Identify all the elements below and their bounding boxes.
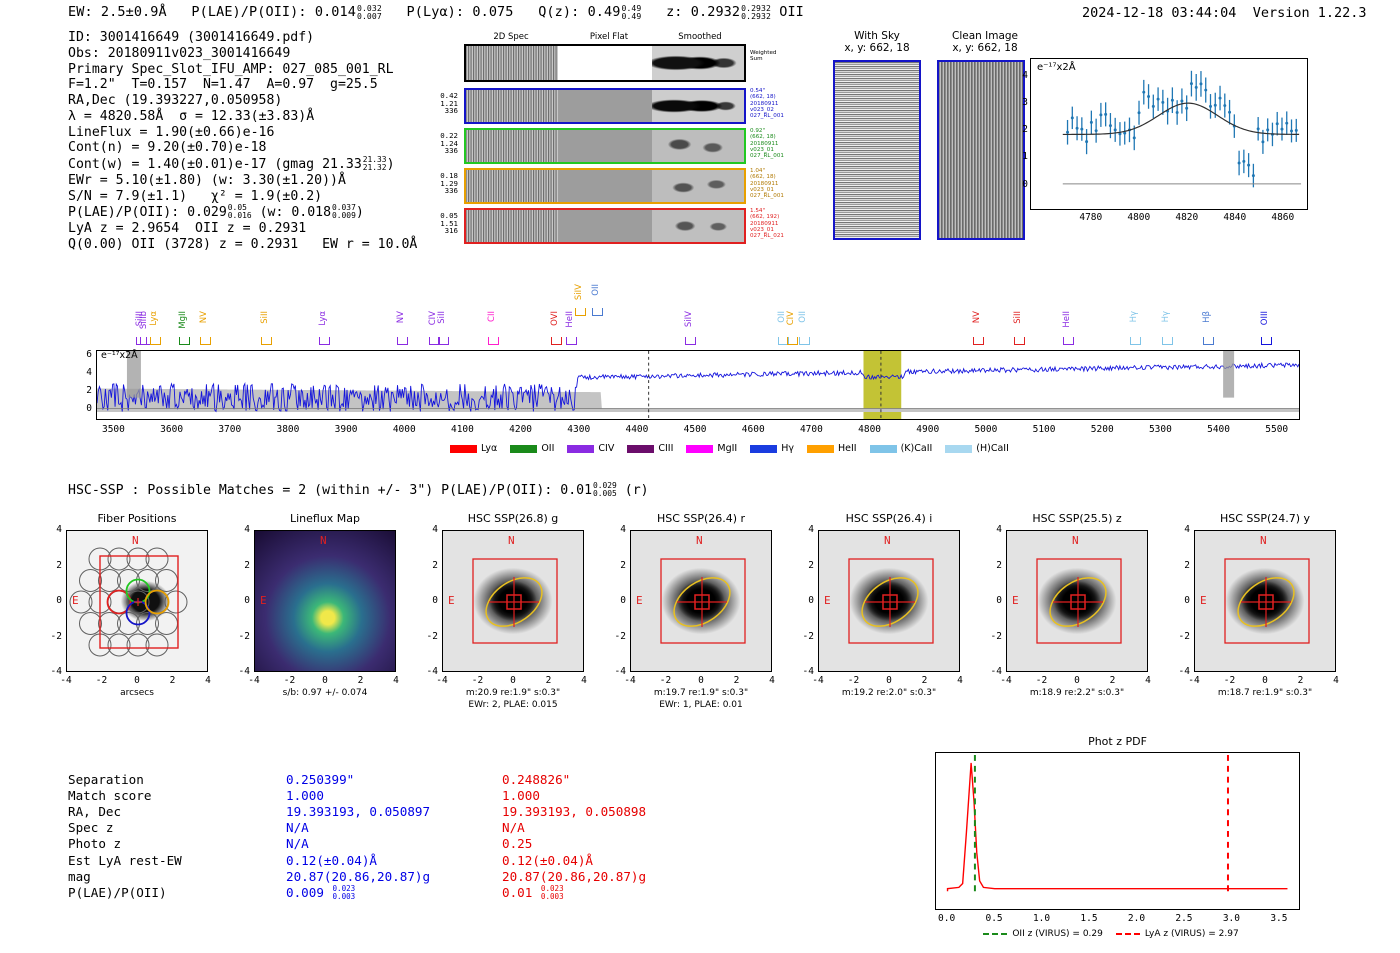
legend-swatch — [627, 445, 654, 453]
cutout-ytick: 2 — [1172, 560, 1190, 571]
match-col1-value: N/A — [286, 836, 309, 852]
montage-row-weighted-sum — [464, 44, 746, 82]
cutout-xtick: 2 — [1097, 675, 1129, 686]
match-col1-value: 0.250399" — [286, 772, 354, 788]
emission-line-label: HeII — [1062, 311, 1072, 328]
spectrum-units: e⁻¹⁷x2Å — [101, 350, 138, 361]
emission-line-bracket — [551, 337, 562, 345]
spectrum-xtick: 3900 — [324, 424, 368, 435]
spectrum-xtick: 5400 — [1197, 424, 1241, 435]
legend-swatch — [450, 445, 477, 453]
compass-east-2: E — [448, 594, 455, 607]
cutout-overlay — [819, 531, 960, 672]
emission-line-bracket — [787, 337, 798, 345]
cutout-xtick: -2 — [838, 675, 870, 686]
match-col2-value: 0.25 — [502, 836, 532, 852]
cutout-title-0: Fiber Positions — [48, 512, 226, 525]
hscssp-headline: HSC-SSP : Possible Matches = 2 (within +… — [68, 482, 649, 498]
emission-line-bracket — [1203, 337, 1214, 345]
spectrum-ytick: 2 — [74, 385, 92, 396]
cutout-ytick: 4 — [1172, 524, 1190, 535]
info-lineflux: LineFlux = 1.90(±0.66)e-16 — [68, 125, 417, 141]
cutout-title-4: HSC SSP(26.4) i — [800, 512, 978, 525]
cutout-caption1-0: arcsecs — [44, 688, 230, 699]
spectrum-xtick: 5100 — [1022, 424, 1066, 435]
compass-north-5: N — [1072, 534, 1079, 547]
montage-row-1-right-labels: 0.54" (662, 18) 20180911 v023_02 027_RL_… — [750, 88, 796, 119]
with-sky-image — [833, 60, 921, 240]
photz-svg — [936, 753, 1299, 909]
emission-line-bracket — [261, 337, 272, 345]
cutout-panel-4[interactable] — [818, 530, 960, 672]
spectrum-ytick: 6 — [74, 349, 92, 360]
photz-xtick: 1.0 — [1022, 913, 1062, 924]
cutout-caption1-3: m:19.7 re:1.9" s:0.3" — [608, 688, 794, 699]
emission-line-label: NV — [199, 311, 209, 323]
emission-line-bracket — [1014, 337, 1025, 345]
montage-row-2-right-labels: 0.92" (662, 18) 20180911 v023_01 027_RL_… — [750, 128, 796, 159]
legend-label: HeII — [838, 443, 857, 454]
info-sigma: σ = 12.33(±3.83)Å — [179, 109, 314, 124]
header-qz: Q(z): 0.49 — [538, 4, 620, 20]
emission-line-bracket — [179, 337, 190, 345]
cutout-ytick: -2 — [420, 631, 438, 642]
spectrum-xtick: 4700 — [789, 424, 833, 435]
line-profile-xtick: 4820 — [1169, 212, 1205, 223]
cutout-xtick: 0 — [685, 675, 717, 686]
cutout-xtick: 0 — [1061, 675, 1093, 686]
cutout-ytick: -2 — [608, 631, 626, 642]
spectrum-xtick: 4900 — [906, 424, 950, 435]
emission-line-bracket — [1063, 337, 1074, 345]
header-plae-value: 0.014 — [315, 4, 356, 20]
cutout-ytick: -2 — [1172, 631, 1190, 642]
line-profile-xtick: 4860 — [1265, 212, 1301, 223]
match-col1-value: 1.000 — [286, 788, 324, 804]
emission-line-label: OII — [798, 311, 808, 323]
cutout-xtick: -4 — [1178, 675, 1210, 686]
cutout-panel-3[interactable] — [630, 530, 772, 672]
cutout-xtick: -2 — [462, 675, 494, 686]
line-profile-ytick: 4 — [1010, 70, 1028, 81]
compass-north-4: N — [884, 534, 891, 547]
cutout-xtick: -4 — [238, 675, 270, 686]
info-contw-lo: 21.32 — [363, 163, 387, 172]
full-spectrum-svg — [97, 351, 1299, 419]
timestamp-value: 2024-12-18 03:44:04 — [1082, 5, 1236, 21]
cutout-xtick: 2 — [157, 675, 189, 686]
header-plya: P(Lyα): 0.075 — [407, 4, 514, 20]
photz-xtick: 0.5 — [974, 913, 1014, 924]
emission-line-label: HeII — [565, 311, 575, 328]
cutout-xtick: 4 — [944, 675, 976, 686]
montage-title-2dspec: 2D Spec — [456, 32, 566, 42]
cutout-ytick: 2 — [984, 560, 1002, 571]
cutout-overlay — [631, 531, 772, 672]
info-plaew-lo: 0.009 — [332, 211, 356, 220]
line-profile-svg — [1031, 59, 1307, 209]
legend-label: CIV — [598, 443, 614, 454]
match-col2-value: 0.01 0.0230.003 — [502, 885, 564, 901]
montage-row-2-left-labels: 0.22 1.24 336 — [432, 132, 458, 155]
emission-line-bracket — [140, 337, 151, 345]
info-obs: Obs: 20180911v023_3001416649 — [68, 46, 417, 62]
spectrum-xtick: 5200 — [1080, 424, 1124, 435]
phot-z-pdf-plot — [935, 752, 1300, 910]
emission-line-label: OVI — [550, 311, 560, 326]
emission-line-bracket — [438, 337, 449, 345]
emission-line-bracket — [575, 308, 586, 316]
spectrum-xtick: 5500 — [1255, 424, 1299, 435]
spectrum-ytick: 4 — [74, 367, 92, 378]
cutout-xtick: 4 — [756, 675, 788, 686]
spectrum-xtick: 3700 — [208, 424, 252, 435]
spectrum-legend-item: Hγ — [750, 443, 794, 454]
match-col1-value: N/A — [286, 820, 309, 836]
legend-label: LyA z (VIRUS) = 2.97 — [1145, 929, 1239, 939]
spectrum-xtick: 4100 — [440, 424, 484, 435]
cutout-ytick: 4 — [984, 524, 1002, 535]
cutout-ytick: 0 — [796, 595, 814, 606]
cutout-ytick: -2 — [984, 631, 1002, 642]
clean-image-title: Clean Imagex, y: 662, 18 — [925, 30, 1045, 54]
spectrum-xtick: 5300 — [1138, 424, 1182, 435]
cutout-ytick: -2 — [232, 631, 250, 642]
header-plae-lo: 0.007 — [357, 11, 382, 21]
line-profile-ytick: 2 — [1010, 124, 1028, 135]
emission-line-label: CIV — [786, 311, 796, 325]
hscssp-headline-suffix: (r) — [625, 483, 649, 498]
cutout-xtick: 0 — [309, 675, 341, 686]
spectrum-legend-item: OII — [510, 443, 554, 454]
compass-east-5: E — [1012, 594, 1019, 607]
match-col2-value: 0.248826" — [502, 772, 570, 788]
spectrum-xtick: 4600 — [731, 424, 775, 435]
spectrum-xtick: 3600 — [150, 424, 194, 435]
spectrum-legend-item: (K)CaII — [870, 443, 933, 454]
cutout-panel-2[interactable] — [442, 530, 584, 672]
emission-line-label: SiII — [260, 311, 270, 324]
spectrum-legend-item: MgII — [686, 443, 737, 454]
compass-north-0: N — [132, 534, 139, 547]
cutout-panel-1[interactable] — [254, 530, 396, 672]
legend-swatch — [750, 445, 777, 453]
montage-weighted-sum-label: Weighted Sum — [750, 50, 796, 63]
spectrum-xtick: 3500 — [91, 424, 135, 435]
legend-label: OII — [541, 443, 554, 454]
cutout-caption1-2: m:20.9 re:1.9" s:0.3" — [420, 688, 606, 699]
cutout-ytick: 0 — [1172, 595, 1190, 606]
photz-legend: OII z (VIRUS) = 0.29LyA z (VIRUS) = 2.97 — [935, 928, 1300, 939]
info-z-lya: LyA z = 2.9654 — [68, 221, 179, 236]
emission-line-bracket — [566, 337, 577, 345]
emission-line-bracket — [799, 337, 810, 345]
cutout-xtick: 2 — [533, 675, 565, 686]
cutout-xtick: -2 — [86, 675, 118, 686]
spectrum-xtick: 5000 — [964, 424, 1008, 435]
legend-swatch — [870, 445, 897, 453]
legend-dash — [1116, 933, 1140, 935]
cutout-ytick: 2 — [44, 560, 62, 571]
montage-row-3-left-labels: 0.18 1.29 336 — [432, 172, 458, 195]
info-sn: S/N = 7.9(±1.1) — [68, 189, 187, 204]
photz-xtick: 1.5 — [1069, 913, 1109, 924]
match-row-label: mag — [68, 869, 91, 885]
cutout-title-1: Lineflux Map — [236, 512, 414, 525]
cutout-ytick: 0 — [420, 595, 438, 606]
match-col1-value: 19.393193, 0.050897 — [286, 804, 430, 820]
line-profile-units: e⁻¹⁷x2Å — [1037, 62, 1076, 73]
emission-line-bracket — [973, 337, 984, 345]
match-col2-value: 0.12(±0.04)Å — [502, 853, 593, 869]
emission-line-bracket — [1162, 337, 1173, 345]
emission-line-label: NV — [972, 311, 982, 323]
cutout-caption1-6: m:18.7 re:1.9" s:0.3" — [1172, 688, 1358, 699]
cutout-ytick: 0 — [44, 595, 62, 606]
emission-line-label: Hγ — [1129, 311, 1139, 322]
emission-line-label: Lyα — [318, 311, 328, 326]
match-col2-value: 1.000 — [502, 788, 540, 804]
cutout-ytick: 4 — [608, 524, 626, 535]
emission-line-bracket — [150, 337, 161, 345]
cutout-xtick: -4 — [50, 675, 82, 686]
line-profile-xtick: 4780 — [1073, 212, 1109, 223]
info-lambda: λ = 4820.58Å — [68, 109, 163, 124]
spectrum-xtick: 4800 — [848, 424, 892, 435]
montage-row-4-right-labels: 1.54" (662, 192) 20180911 v023_01 027_RL… — [750, 208, 796, 239]
cutout-overlay — [1007, 531, 1148, 672]
emission-line-profile-plot: e⁻¹⁷x2Å — [1030, 58, 1308, 210]
compass-north-3: N — [696, 534, 703, 547]
spectrum-xtick: 4000 — [382, 424, 426, 435]
cutout-xtick: 4 — [1320, 675, 1352, 686]
cutout-overlay — [443, 531, 584, 672]
match-col2-value: N/A — [502, 820, 525, 836]
cutout-xtick: 0 — [873, 675, 905, 686]
cutout-panel-6[interactable] — [1194, 530, 1336, 672]
header-qz-lo: 0.49 — [621, 11, 641, 21]
compass-north-1: N — [320, 534, 327, 547]
montage-row-1-left-labels: 0.42 1.21 336 — [432, 92, 458, 115]
emission-line-label: SiIV — [574, 284, 584, 300]
header-z-species: OII — [779, 4, 804, 20]
emission-line-label: OII — [591, 284, 601, 296]
info-id: ID: 3001416649 (3001416649.pdf) — [68, 30, 417, 46]
cutout-xtick: 2 — [345, 675, 377, 686]
cutout-xtick: 0 — [121, 675, 153, 686]
cutout-ytick: 2 — [608, 560, 626, 571]
spectrum-legend-item: CIV — [567, 443, 614, 454]
legend-dash — [983, 933, 1007, 935]
spec2d-montage: 2D Spec Pixel Flat Smoothed Weighted Sum… — [432, 32, 762, 252]
line-profile-ytick: 1 — [1010, 151, 1028, 162]
spectrum-xtick: 4300 — [557, 424, 601, 435]
emission-line-label: NV — [396, 311, 406, 323]
info-z-oii: OII z = 0.2931 — [195, 221, 306, 236]
info-radec: RA,Dec (19.393227,0.050958) — [68, 93, 417, 109]
info-ewr: EWr = 5.10(±1.80) (w: 3.30(±1.20))Å — [68, 173, 417, 189]
cutout-title-6: HSC SSP(24.7) y — [1176, 512, 1354, 525]
legend-label: (H)CaII — [976, 443, 1009, 454]
cutout-xtick: -4 — [426, 675, 458, 686]
emission-line-label: SiII — [1013, 311, 1023, 324]
montage-row-3-right-labels: 1.04" (662, 18) 20180911 v023_01 027_RL_… — [750, 168, 796, 199]
info-primary-amp: Primary Spec_Slot_IFU_AMP: 027_085_001_R… — [68, 62, 417, 78]
emission-line-label: SiIV — [684, 311, 694, 327]
cutout-caption1-5: m:18.9 re:2.2" s:0.3" — [984, 688, 1170, 699]
montage-row-4-left-labels: 0.05 1.51 316 — [432, 212, 458, 235]
info-cont-w: Cont(w) = 1.40(±0.01)e-17 (gmag 21.33 — [68, 157, 362, 172]
cutout-panel-0[interactable] — [66, 530, 208, 672]
legend-swatch — [807, 445, 834, 453]
hscssp-headline-prefix: HSC-SSP : Possible Matches = 2 (within +… — [68, 483, 592, 498]
summary-header: EW: 2.5±0.9Å P(LAE)/P(OII): 0.0140.0320.… — [68, 4, 804, 21]
legend-swatch — [686, 445, 713, 453]
emission-line-label: SiIIb — [139, 311, 149, 329]
match-col1-value: 0.009 0.0230.003 — [286, 885, 355, 901]
cutout-panel-5[interactable] — [1006, 530, 1148, 672]
emission-line-label: CII — [487, 311, 497, 322]
photz-title: Phot z PDF — [935, 735, 1300, 748]
match-row-label: RA, Dec — [68, 804, 121, 820]
cutout-caption1-1: s/b: 0.97 +/- 0.074 — [232, 688, 418, 699]
montage-title-pixelflat: Pixel Flat — [564, 32, 654, 42]
cutout-caption2-3: EWr: 1, PLAE: 0.01 — [608, 700, 794, 711]
cutout-xtick: -4 — [802, 675, 834, 686]
legend-label: Lyα — [481, 443, 497, 454]
info-chi2: χ² = 1.9(±0.2) — [211, 189, 322, 204]
match-col2-value: 19.393193, 0.050898 — [502, 804, 646, 820]
photz-legend-item: LyA z (VIRUS) = 2.97 — [1116, 929, 1239, 939]
cutout-xtick: 2 — [1285, 675, 1317, 686]
compass-east-0: E — [72, 594, 79, 607]
emission-line-bracket — [200, 337, 211, 345]
line-profile-xtick: 4840 — [1217, 212, 1253, 223]
cutout-title-3: HSC SSP(26.4) r — [612, 512, 790, 525]
match-row-label: Spec z — [68, 820, 114, 836]
report-timestamp: 2024-12-18 03:44:04 Version 1.22.3 — [1082, 5, 1367, 21]
emission-line-bracket — [1130, 337, 1141, 345]
montage-row-1 — [464, 88, 746, 124]
compass-east-3: E — [636, 594, 643, 607]
compass-east-6: E — [1200, 594, 1207, 607]
legend-swatch — [567, 445, 594, 453]
cutout-xtick: 0 — [1249, 675, 1281, 686]
photz-xtick: 0.0 — [927, 913, 967, 924]
legend-label: Hγ — [781, 443, 794, 454]
spectrum-legend-item: CIII — [627, 443, 673, 454]
cutout-ytick: 4 — [232, 524, 250, 535]
emission-line-label: Hγ — [1161, 311, 1171, 322]
spectrum-ytick: 0 — [74, 403, 92, 414]
cutout-ytick: 4 — [420, 524, 438, 535]
emission-line-label: SiII — [437, 311, 447, 324]
legend-label: CIII — [658, 443, 673, 454]
cutout-caption2-2: EWr: 2, PLAE: 0.015 — [420, 700, 606, 711]
spectrum-xtick: 3800 — [266, 424, 310, 435]
photz-legend-item: OII z (VIRUS) = 0.29 — [983, 929, 1103, 939]
match-row-label: P(LAE)/P(OII) — [68, 885, 167, 901]
photz-xtick: 2.0 — [1116, 913, 1156, 924]
cutout-overlay — [1195, 531, 1336, 672]
spectrum-legend: LyαOIICIVCIIIMgIIHγHeII(K)CaII(H)CaII — [450, 443, 1022, 456]
info-plae-lo: 0.016 — [228, 211, 252, 220]
cutout-xtick: 4 — [192, 675, 224, 686]
cutout-title-2: HSC SSP(26.8) g — [424, 512, 602, 525]
line-profile-xtick: 4800 — [1121, 212, 1157, 223]
montage-title-smoothed: Smoothed — [650, 32, 750, 42]
emission-line-label: OIII — [1260, 311, 1270, 325]
source-info-block: ID: 3001416649 (3001416649.pdf) Obs: 201… — [68, 30, 417, 253]
montage-row-4 — [464, 208, 746, 244]
cutout-ytick: -2 — [44, 631, 62, 642]
emission-line-bracket — [319, 337, 330, 345]
cutout-xtick: -2 — [1026, 675, 1058, 686]
header-plae-label: P(LAE)/P(OII): — [191, 4, 306, 20]
cutout-xtick: 4 — [568, 675, 600, 686]
legend-swatch — [510, 445, 537, 453]
photz-xtick: 3.0 — [1211, 913, 1251, 924]
compass-north-6: N — [1260, 534, 1267, 547]
match-row-label: Est LyA rest-EW — [68, 853, 182, 869]
match-row-label: Match score — [68, 788, 151, 804]
fiber-circles — [67, 531, 208, 672]
legend-swatch — [945, 445, 972, 453]
emission-line-label: Lyα — [149, 311, 159, 326]
match-col1-value: 0.12(±0.04)Å — [286, 853, 377, 869]
header-z-lo: 0.2932 — [741, 11, 771, 21]
version-value: Version 1.22.3 — [1253, 5, 1367, 21]
emission-line-bracket — [1261, 337, 1272, 345]
compass-east-4: E — [824, 594, 831, 607]
cutout-xtick: -4 — [614, 675, 646, 686]
info-cont-n: Cont(n) = 9.20(±0.70)e-18 — [68, 140, 417, 156]
cutout-xtick: -2 — [274, 675, 306, 686]
line-profile-ytick: 3 — [1010, 97, 1028, 108]
cutout-title-5: HSC SSP(25.5) z — [988, 512, 1166, 525]
emission-line-label: MgII — [178, 311, 188, 329]
cutout-xtick: 4 — [1132, 675, 1164, 686]
match-col2-value: 20.87(20.86,20.87)g — [502, 869, 646, 885]
info-plae-w: (w: 0.018 — [260, 205, 331, 220]
info-q-line: Q(0.00) OII (3728) z = 0.2931 EW r = 10.… — [68, 237, 417, 253]
photz-xtick: 2.5 — [1164, 913, 1204, 924]
compass-east-1: E — [260, 594, 267, 607]
emission-line-bracket — [488, 337, 499, 345]
cutout-ytick: 0 — [608, 595, 626, 606]
cutout-ytick: 4 — [796, 524, 814, 535]
cutout-ytick: 0 — [232, 595, 250, 606]
montage-row-1-val-2: 336 — [432, 107, 458, 115]
cutout-xtick: -2 — [650, 675, 682, 686]
with-sky-title: With Skyx, y: 662, 18 — [822, 30, 932, 54]
spectrum-xtick: 4200 — [499, 424, 543, 435]
cutout-ytick: 0 — [984, 595, 1002, 606]
line-profile-ytick: 0 — [1010, 179, 1028, 190]
cutout-ytick: -2 — [796, 631, 814, 642]
cutout-ytick: 2 — [232, 560, 250, 571]
spectrum-xtick: 4400 — [615, 424, 659, 435]
legend-label: MgII — [717, 443, 737, 454]
spectrum-legend-item: Lyα — [450, 443, 497, 454]
match-col1-value: 20.87(20.86,20.87)g — [286, 869, 430, 885]
cutout-xtick: 2 — [721, 675, 753, 686]
cutout-ytick: 2 — [420, 560, 438, 571]
legend-label: OII z (VIRUS) = 0.29 — [1012, 929, 1103, 939]
montage-row-3 — [464, 168, 746, 204]
spectrum-xtick: 4500 — [673, 424, 717, 435]
cutout-xtick: 0 — [497, 675, 529, 686]
